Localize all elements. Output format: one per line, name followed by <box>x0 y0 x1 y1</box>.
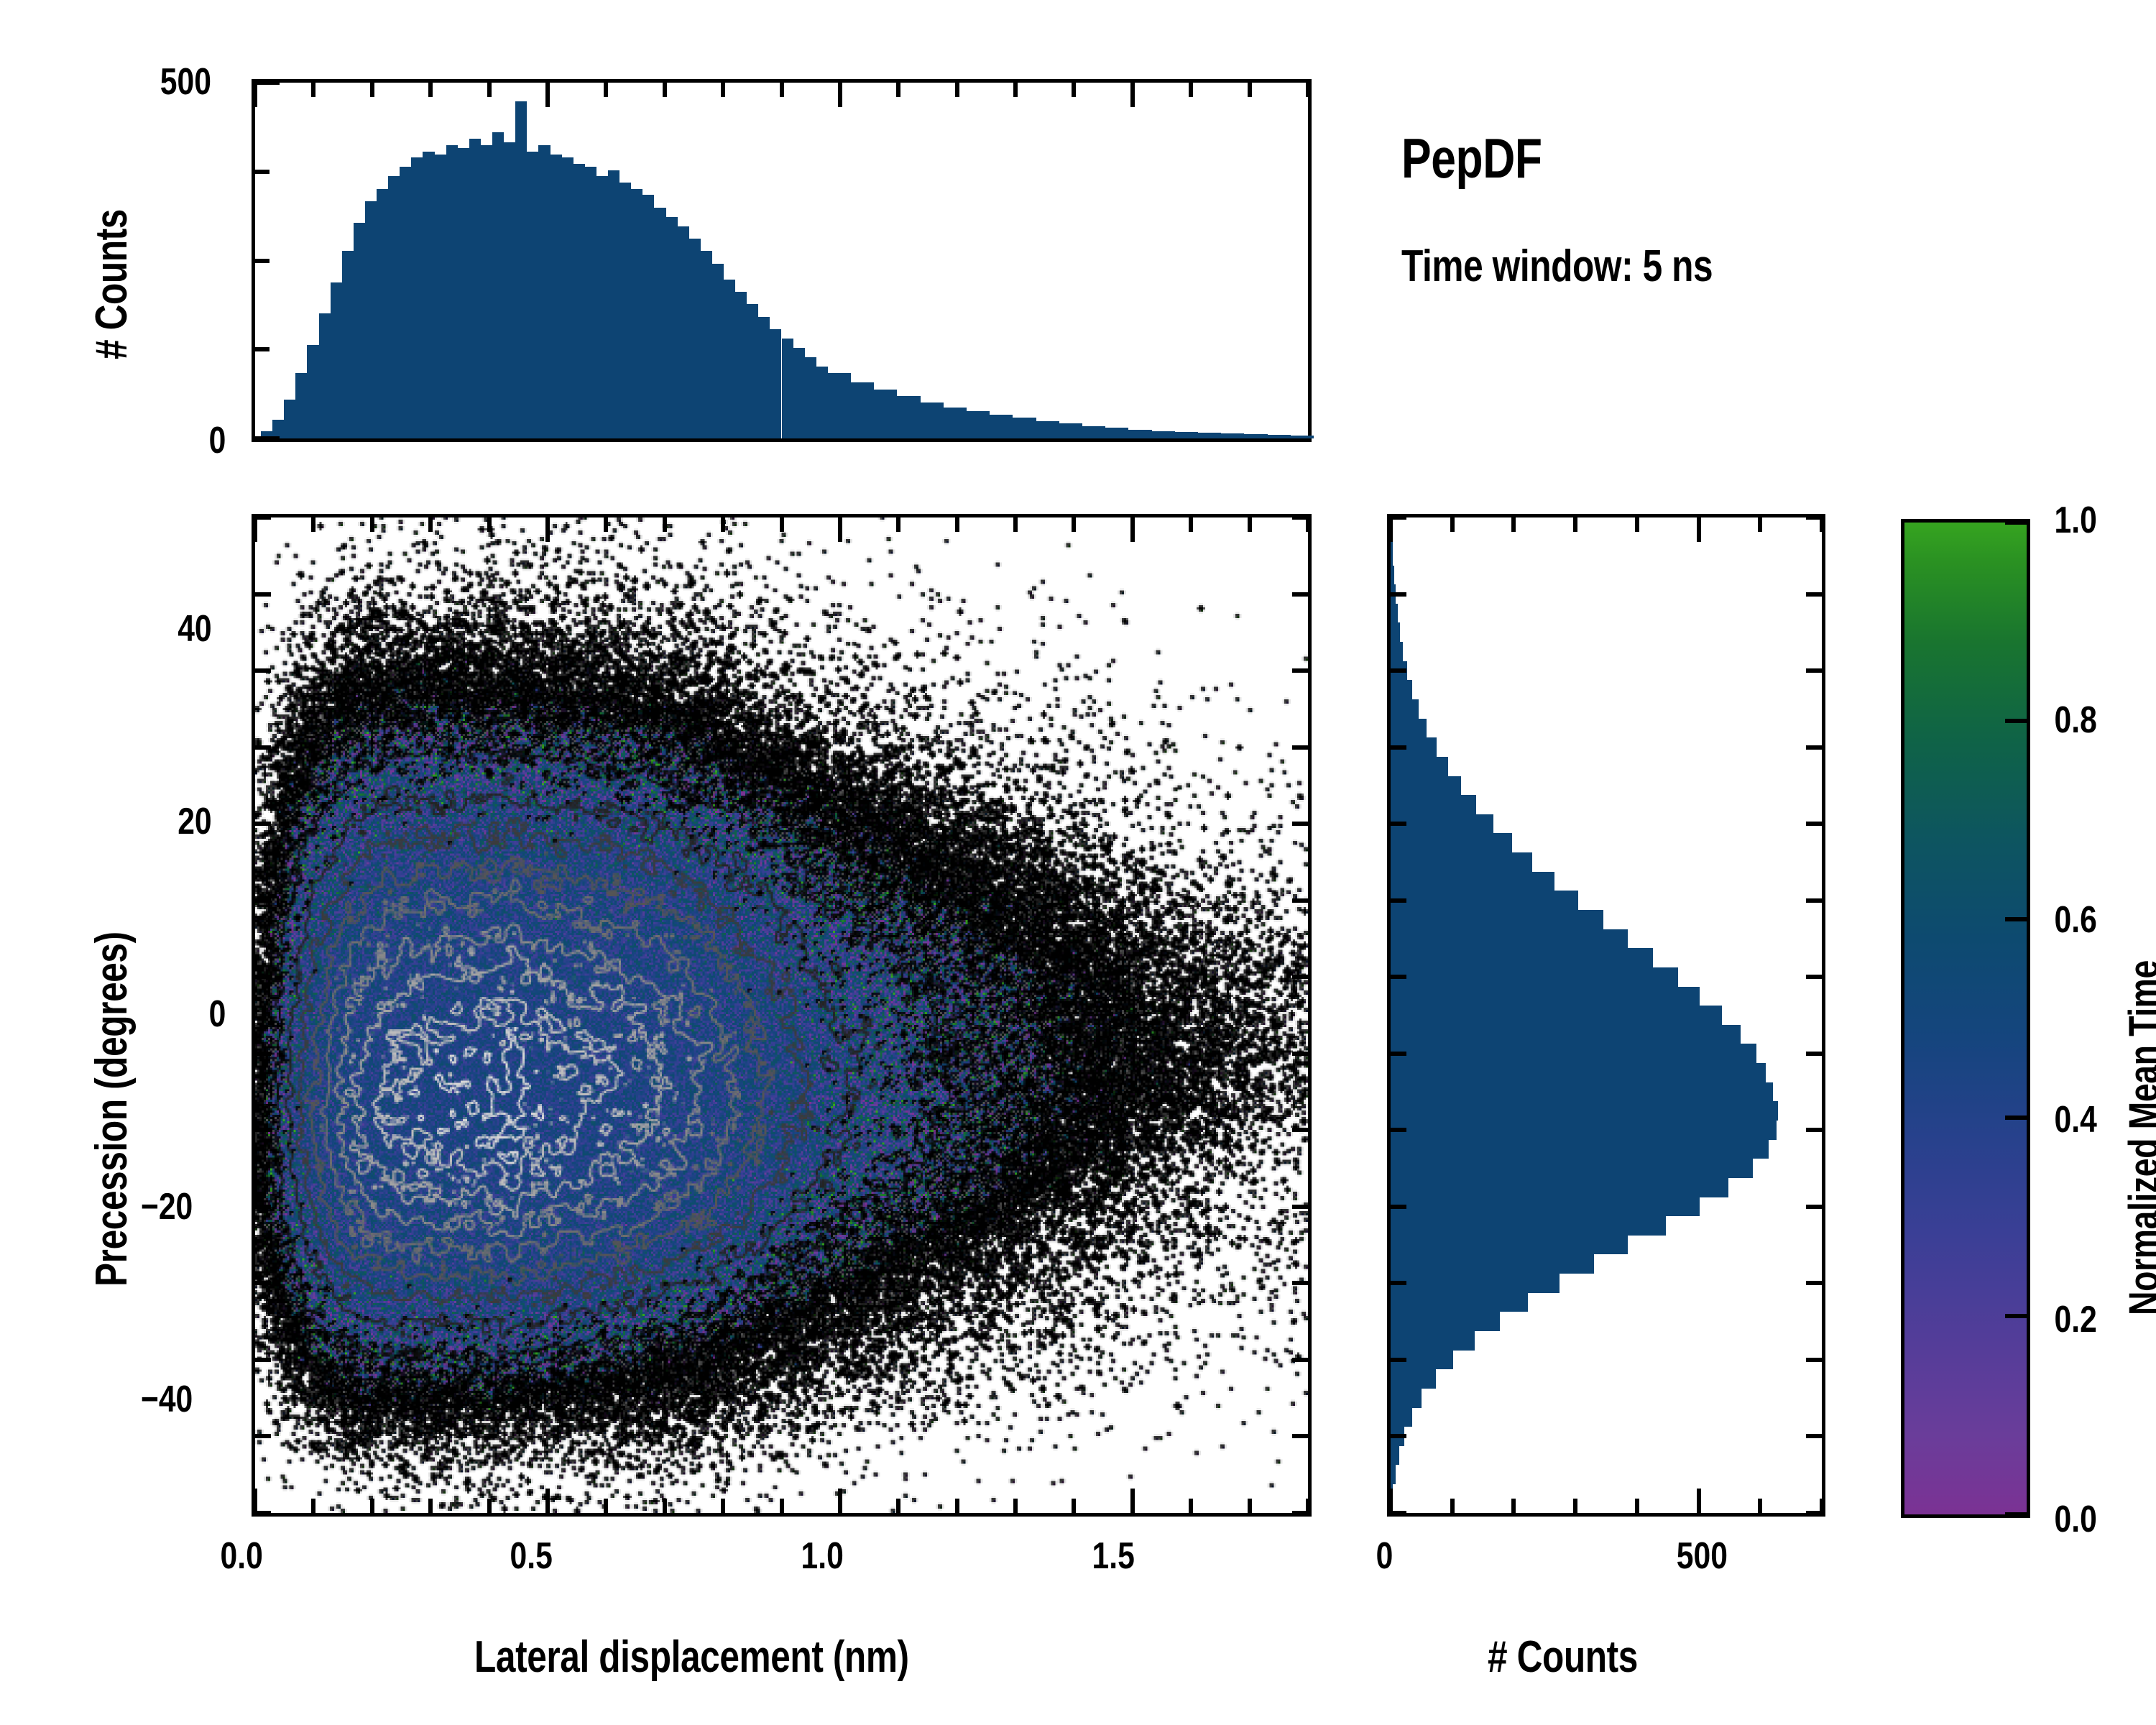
top-histogram-bar <box>458 148 469 438</box>
colorbar-tick <box>2005 1115 2027 1120</box>
top-histogram-bar <box>1105 428 1128 438</box>
right-ytick-right <box>1806 1205 1822 1209</box>
top-histogram-bar <box>469 139 481 438</box>
top-xtick <box>838 83 842 107</box>
top-histogram-bar <box>712 264 724 438</box>
top-histogram-bar <box>515 101 527 438</box>
top-histogram-bar <box>828 373 851 438</box>
right-histogram-bar <box>1391 1274 1560 1293</box>
right-xtick <box>1820 1499 1824 1513</box>
right-histogram-bar <box>1391 1465 1396 1484</box>
top-histogram-bar <box>527 152 538 438</box>
top-xtick <box>896 83 900 97</box>
right-xtick-top <box>1820 517 1824 532</box>
right-ytick-right <box>1806 745 1822 750</box>
top-histogram-bar <box>921 402 944 438</box>
top-histogram-bar <box>897 396 920 438</box>
top-histogram-bar <box>538 145 550 438</box>
colorbar-label: Normalized Mean Time <box>2120 960 2156 1315</box>
top-histogram-bar <box>1036 421 1059 438</box>
right-xtick-top <box>1697 517 1701 542</box>
top-histogram-bar <box>967 411 990 438</box>
colorbar-tick-08: 0.8 <box>2055 699 2097 742</box>
top-histogram-bar <box>758 317 770 438</box>
top-histogram-ylabel: # Counts <box>86 209 137 359</box>
top-histogram-bar <box>365 201 377 438</box>
main-xtick-05: 0.5 <box>510 1535 553 1578</box>
top-ytick <box>255 347 269 351</box>
top-xtick <box>1072 83 1076 97</box>
colorbar-tick-04: 0.4 <box>2055 1098 2097 1141</box>
top-histogram-bar <box>666 217 678 438</box>
right-histogram-bar <box>1391 1082 1773 1102</box>
top-histogram-bar <box>504 142 515 439</box>
right-xtick-top <box>1511 517 1516 532</box>
main-xtick-00: 0.0 <box>221 1535 263 1578</box>
right-ytick-right <box>1806 515 1822 520</box>
right-xtick-0: 0 <box>1376 1535 1393 1578</box>
top-xtick <box>1189 83 1193 97</box>
top-histogram-bar <box>435 155 446 438</box>
top-histogram-bar <box>272 420 284 438</box>
main-xtick-15: 1.5 <box>1092 1535 1135 1578</box>
right-ytick-right <box>1806 1434 1822 1438</box>
main-plot-xlabel: Lateral displacement (nm) <box>474 1632 909 1683</box>
top-ytick <box>255 80 280 85</box>
right-histogram-bar <box>1391 948 1653 967</box>
right-histogram-bar <box>1391 642 1403 661</box>
right-histogram-bar <box>1391 814 1493 834</box>
main-xtick-10: 1.0 <box>801 1535 844 1578</box>
right-xtick <box>1573 1499 1577 1513</box>
top-histogram-bar <box>654 208 665 438</box>
top-histogram-bar <box>307 345 318 438</box>
main-ytick-20: 20 <box>178 800 211 843</box>
right-histogram-bar <box>1391 622 1400 642</box>
right-histogram-bar <box>1391 1006 1722 1025</box>
top-histogram-bar <box>481 145 492 438</box>
right-histogram-bar <box>1391 757 1448 776</box>
top-ytick <box>255 170 269 174</box>
top-histogram-bar <box>1128 430 1151 438</box>
top-histogram-bar <box>342 251 354 438</box>
top-histogram-bar <box>805 357 816 438</box>
right-histogram-bar <box>1391 1236 1628 1255</box>
top-histogram-bar <box>735 292 747 438</box>
top-histogram-bar <box>284 400 295 438</box>
top-xtick <box>370 83 374 97</box>
top-histogram-axes <box>252 79 1312 442</box>
colorbar <box>1901 519 2030 1518</box>
right-histogram-bar <box>1391 987 1700 1006</box>
top-histogram-bar <box>411 157 423 438</box>
top-xtick <box>311 83 315 97</box>
top-histogram-ytick-0: 0 <box>209 419 226 462</box>
top-xtick <box>428 83 433 97</box>
right-histogram-bar <box>1391 1121 1777 1140</box>
top-histogram-bar <box>724 280 735 438</box>
right-histogram-bar <box>1391 1063 1766 1082</box>
right-xtick-top <box>1758 517 1762 532</box>
right-histogram-bar <box>1391 1101 1778 1121</box>
top-xtick <box>1013 83 1018 97</box>
right-ytick-right <box>1806 1128 1822 1132</box>
colorbar-tick <box>2005 719 2027 723</box>
right-histogram-bar <box>1391 1140 1769 1159</box>
right-histogram-bar <box>1391 776 1461 796</box>
right-ytick <box>1391 515 1406 520</box>
colorbar-tick-06: 0.6 <box>2055 898 2097 942</box>
colorbar-tick-02: 0.2 <box>2055 1298 2097 1341</box>
main-plot-ylabel: Precession (degrees) <box>86 931 137 1287</box>
right-histogram-bar <box>1391 1044 1756 1063</box>
top-histogram-bar <box>608 170 619 438</box>
right-histogram-bar <box>1391 1331 1475 1351</box>
top-xtick <box>721 83 725 97</box>
top-histogram-bar <box>261 431 272 438</box>
right-histogram-bar <box>1391 604 1398 623</box>
right-histogram-bar <box>1391 584 1396 604</box>
right-histogram-bar <box>1391 967 1678 987</box>
main-ytick-m40: −40 <box>141 1378 193 1421</box>
top-histogram-bar <box>851 382 874 438</box>
top-histogram-bar <box>701 251 712 438</box>
top-xtick <box>955 83 959 97</box>
right-ytick-right <box>1806 1511 1822 1515</box>
top-histogram-bar <box>747 304 758 438</box>
top-xtick <box>1130 83 1135 107</box>
top-histogram-bar <box>1175 432 1198 438</box>
top-histogram-bar <box>689 239 701 438</box>
colorbar-tick <box>2005 520 2027 525</box>
colorbar-tick <box>2005 1512 2027 1517</box>
top-histogram-bar <box>295 373 307 438</box>
right-xtick <box>1635 1499 1639 1513</box>
top-histogram-ytick-500: 500 <box>160 60 211 103</box>
top-histogram-bar <box>423 152 434 438</box>
right-ytick-right <box>1806 975 1822 979</box>
right-ytick <box>1391 1511 1406 1515</box>
top-histogram-bar <box>678 226 689 438</box>
right-xtick <box>1758 1499 1762 1513</box>
right-xtick-top <box>1573 517 1577 532</box>
top-histogram-bar <box>793 348 805 438</box>
top-histogram-bar <box>782 339 793 438</box>
right-histogram-bar <box>1391 795 1476 814</box>
top-histogram-bar <box>331 282 342 438</box>
right-ytick-right <box>1806 822 1822 826</box>
top-histogram-bar <box>816 367 828 438</box>
top-histogram-bar <box>492 132 504 438</box>
right-xtick <box>1450 1499 1455 1513</box>
right-histogram-bar <box>1391 680 1412 699</box>
right-xtick <box>1511 1499 1516 1513</box>
right-histogram-bar <box>1391 1293 1528 1312</box>
top-histogram-bar <box>1013 418 1036 438</box>
right-histogram-bar <box>1391 1484 1393 1504</box>
right-histogram-bar <box>1391 872 1554 891</box>
top-xtick <box>780 83 784 97</box>
top-histogram-bar <box>585 167 596 438</box>
right-ytick-right <box>1806 668 1822 673</box>
right-histogram-bar <box>1391 1025 1741 1044</box>
top-histogram-bar <box>631 189 642 438</box>
top-histogram-bar <box>354 223 365 438</box>
figure-title: PepDF <box>1401 126 1542 191</box>
right-histogram-bar <box>1391 699 1419 719</box>
right-histogram-xlabel: # Counts <box>1488 1632 1638 1683</box>
right-histogram-bar <box>1391 1159 1753 1178</box>
right-ytick-right <box>1806 592 1822 597</box>
top-histogram-bar <box>1082 426 1105 438</box>
right-ytick-right <box>1806 1358 1822 1362</box>
right-histogram-bar <box>1391 719 1427 738</box>
colorbar-tick-00: 0.0 <box>2055 1498 2097 1541</box>
right-histogram-bar <box>1391 1369 1436 1389</box>
right-histogram-bar <box>1391 1197 1700 1217</box>
top-histogram-bar <box>1244 434 1267 438</box>
top-histogram-bar <box>388 176 400 438</box>
top-histogram-bar <box>1059 423 1082 438</box>
main-ytick-40: 40 <box>178 607 211 650</box>
top-histogram-bar <box>1198 433 1221 438</box>
right-ytick-right <box>1806 1281 1822 1285</box>
right-histogram-axes <box>1387 514 1825 1517</box>
right-histogram-bar <box>1391 910 1603 929</box>
main-ytick-m20: −20 <box>141 1185 193 1228</box>
right-xtick-500: 500 <box>1677 1535 1728 1578</box>
right-xtick-top <box>1635 517 1639 532</box>
top-histogram-bar <box>1268 435 1291 438</box>
right-xtick-top <box>1450 517 1455 532</box>
right-histogram-bar <box>1391 661 1407 681</box>
right-histogram-bar <box>1391 1216 1666 1236</box>
top-xtick <box>663 83 667 97</box>
top-histogram-bar <box>874 390 897 438</box>
right-xtick <box>1697 1489 1701 1513</box>
top-histogram-bar <box>944 408 967 438</box>
top-xtick <box>1248 83 1252 97</box>
top-histogram-bar <box>400 167 411 438</box>
right-histogram-bar <box>1391 833 1512 852</box>
right-ytick-right <box>1806 898 1822 903</box>
right-histogram-bar <box>1391 1389 1422 1408</box>
right-ytick-right <box>1806 1052 1822 1056</box>
colorbar-tick-10: 1.0 <box>2055 499 2097 542</box>
top-histogram-bar <box>990 415 1013 438</box>
top-histogram-bar <box>596 176 608 438</box>
top-xtick <box>1306 83 1310 97</box>
right-histogram-bar <box>1391 1351 1453 1370</box>
top-histogram-bar <box>1291 436 1314 438</box>
top-histogram-bar <box>446 145 458 438</box>
right-histogram-bar <box>1391 852 1532 872</box>
top-histogram-bar <box>550 155 562 438</box>
right-histogram-bar <box>1391 737 1437 757</box>
main-ytick-0: 0 <box>209 993 226 1036</box>
top-histogram-bar <box>642 195 654 438</box>
top-histogram-bar <box>377 189 388 438</box>
right-histogram-bar <box>1391 1446 1399 1466</box>
top-xtick <box>604 83 608 97</box>
main-heatmap-axes[interactable] <box>252 514 1312 1517</box>
figure-root: # Counts 500 0 Precession (degrees) Late… <box>0 0 2156 1725</box>
top-xtick <box>545 83 550 107</box>
top-histogram-bar <box>319 313 331 438</box>
right-histogram-bar <box>1391 891 1578 910</box>
top-histogram-bar <box>1152 431 1175 438</box>
right-histogram-bar <box>1391 1254 1594 1274</box>
right-histogram-bar <box>1391 546 1393 566</box>
top-xtick <box>487 83 492 97</box>
top-histogram-bar <box>770 329 781 438</box>
top-ytick <box>255 259 269 263</box>
top-xtick <box>253 83 257 107</box>
colorbar-tick <box>2005 917 2027 921</box>
colorbar-tick <box>2005 1314 2027 1318</box>
top-histogram-bar <box>1221 433 1244 438</box>
right-histogram-bar <box>1391 1427 1404 1446</box>
right-histogram-bar <box>1391 1408 1412 1427</box>
right-histogram-bar <box>1391 566 1394 585</box>
top-histogram-bar <box>562 157 573 438</box>
top-histogram-bar <box>573 164 585 438</box>
figure-subtitle: Time window: 5 ns <box>1401 241 1713 292</box>
right-histogram-bar <box>1391 1312 1500 1331</box>
right-histogram-bar <box>1391 929 1628 949</box>
top-histogram-bar <box>619 183 631 438</box>
right-histogram-bar <box>1391 527 1393 546</box>
right-histogram-bar <box>1391 1178 1728 1197</box>
